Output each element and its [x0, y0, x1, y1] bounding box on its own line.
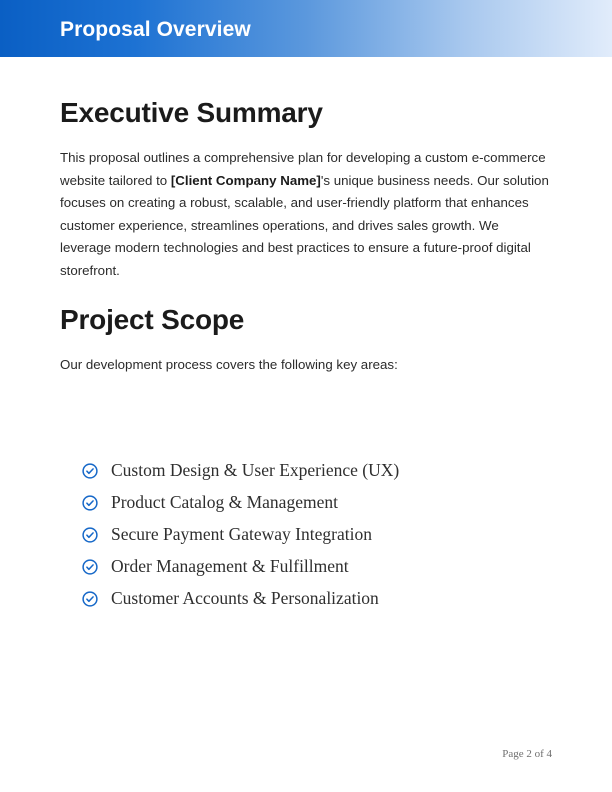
list-item: Order Management & Fulfillment [60, 551, 552, 583]
page-footer: Page 2 of 4 [60, 748, 552, 760]
paragraph-text-part-2: 's unique business needs. Our solution f… [60, 173, 549, 278]
list-item-label: Secure Payment Gateway Integration [111, 526, 372, 544]
project-scope-intro: Our development process covers the follo… [60, 336, 552, 377]
check-circle-icon [82, 463, 98, 479]
check-circle-icon [82, 559, 98, 575]
list-item: Custom Design & User Experience (UX) [60, 455, 552, 487]
check-circle-icon [82, 495, 98, 511]
page-header-title: Proposal Overview [60, 18, 251, 42]
page-number-label: Page 2 of 4 [502, 748, 552, 760]
list-item: Product Catalog & Management [60, 487, 552, 519]
list-item: Secure Payment Gateway Integration [60, 519, 552, 551]
check-circle-icon [82, 591, 98, 607]
client-company-name-placeholder: [Client Company Name] [171, 173, 321, 188]
executive-summary-heading: Executive Summary [60, 57, 552, 129]
check-circle-icon [82, 527, 98, 543]
project-scope-list: Custom Design & User Experience (UX) Pro… [60, 377, 552, 615]
executive-summary-paragraph: This proposal outlines a comprehensive p… [60, 129, 552, 282]
project-scope-heading: Project Scope [60, 282, 552, 336]
list-item-label: Product Catalog & Management [111, 494, 338, 512]
list-item-label: Custom Design & User Experience (UX) [111, 462, 399, 480]
list-item-label: Customer Accounts & Personalization [111, 590, 379, 608]
page-header-banner: Proposal Overview [0, 0, 612, 57]
document-content: Executive Summary This proposal outlines… [60, 57, 552, 615]
list-item-label: Order Management & Fulfillment [111, 558, 349, 576]
document-page: Proposal Overview Executive Summary This… [0, 0, 612, 792]
list-item: Customer Accounts & Personalization [60, 583, 552, 615]
